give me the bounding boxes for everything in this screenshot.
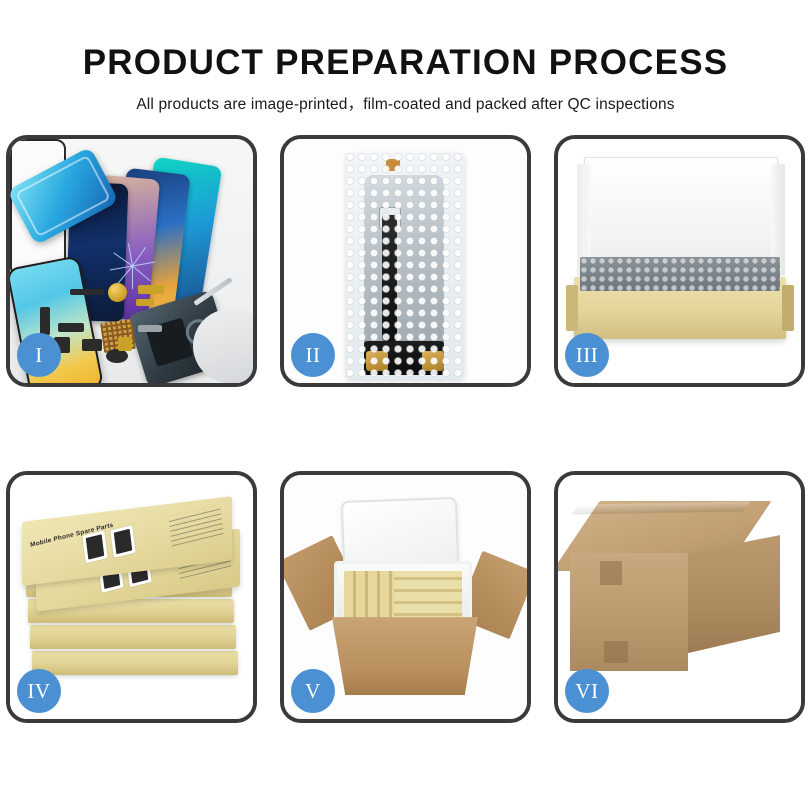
speaker-component (108, 283, 127, 302)
bubble-texture (346, 153, 464, 379)
step-panel-2: II (280, 135, 531, 387)
step-panel-1: I (6, 135, 257, 387)
carton-tape-upper (600, 561, 622, 585)
step-badge-3: III (565, 333, 609, 377)
page-title: PRODUCT PREPARATION PROCESS (0, 44, 811, 81)
flex-cable-1 (138, 285, 164, 294)
gold-box-tray (574, 277, 786, 339)
cracked-screen-icon (109, 243, 155, 289)
part-vibrator (118, 337, 132, 351)
box-art-swatch-1 (82, 531, 107, 564)
step-panel-3: III (554, 135, 805, 387)
carton-tape-lower (604, 641, 628, 663)
part-button (82, 339, 102, 351)
step-panel-5: V (280, 471, 531, 723)
flex-cable-2 (136, 299, 154, 306)
header: PRODUCT PREPARATION PROCESS All products… (0, 0, 811, 114)
part-strip (70, 289, 104, 295)
page-subtitle: All products are image-printed，film-coat… (0, 92, 811, 114)
part-bracket (138, 325, 162, 332)
step-badge-2: II (291, 333, 335, 377)
tray-lip-right (782, 285, 794, 331)
step-badge-4: IV (17, 669, 61, 713)
part-camera (106, 349, 128, 363)
step-badge-5: V (291, 669, 335, 713)
bubble-wrapped-contents (580, 257, 780, 291)
step-badge-6: VI (565, 669, 609, 713)
bubble-wrap-package (346, 153, 464, 379)
product-preparation-infographic: PRODUCT PREPARATION PROCESS All products… (0, 0, 811, 811)
foam-lid (341, 497, 459, 569)
step-badge-1: I (17, 333, 61, 377)
box-layer-1 (32, 651, 238, 675)
tray-lip-left (566, 285, 578, 331)
step-panel-4: Mobile Phone Spare Parts Mobile Phone Sp… (6, 471, 257, 723)
part-antenna (40, 307, 50, 335)
process-steps-grid: I II (14, 135, 797, 723)
cardboard-carton-open (322, 617, 488, 695)
carton-front-face (570, 553, 688, 671)
step-panel-6: VI (554, 471, 805, 723)
box-art-swatch-2 (110, 525, 135, 558)
carton-side-face (688, 535, 780, 653)
gold-boxes-inside (344, 571, 462, 625)
stacked-box-group: Mobile Phone Spare Parts Mobile Phone Sp… (18, 501, 246, 697)
box-spec-lines-1 (168, 505, 223, 547)
box-layer-2 (30, 625, 236, 649)
part-connector-1 (58, 323, 84, 332)
